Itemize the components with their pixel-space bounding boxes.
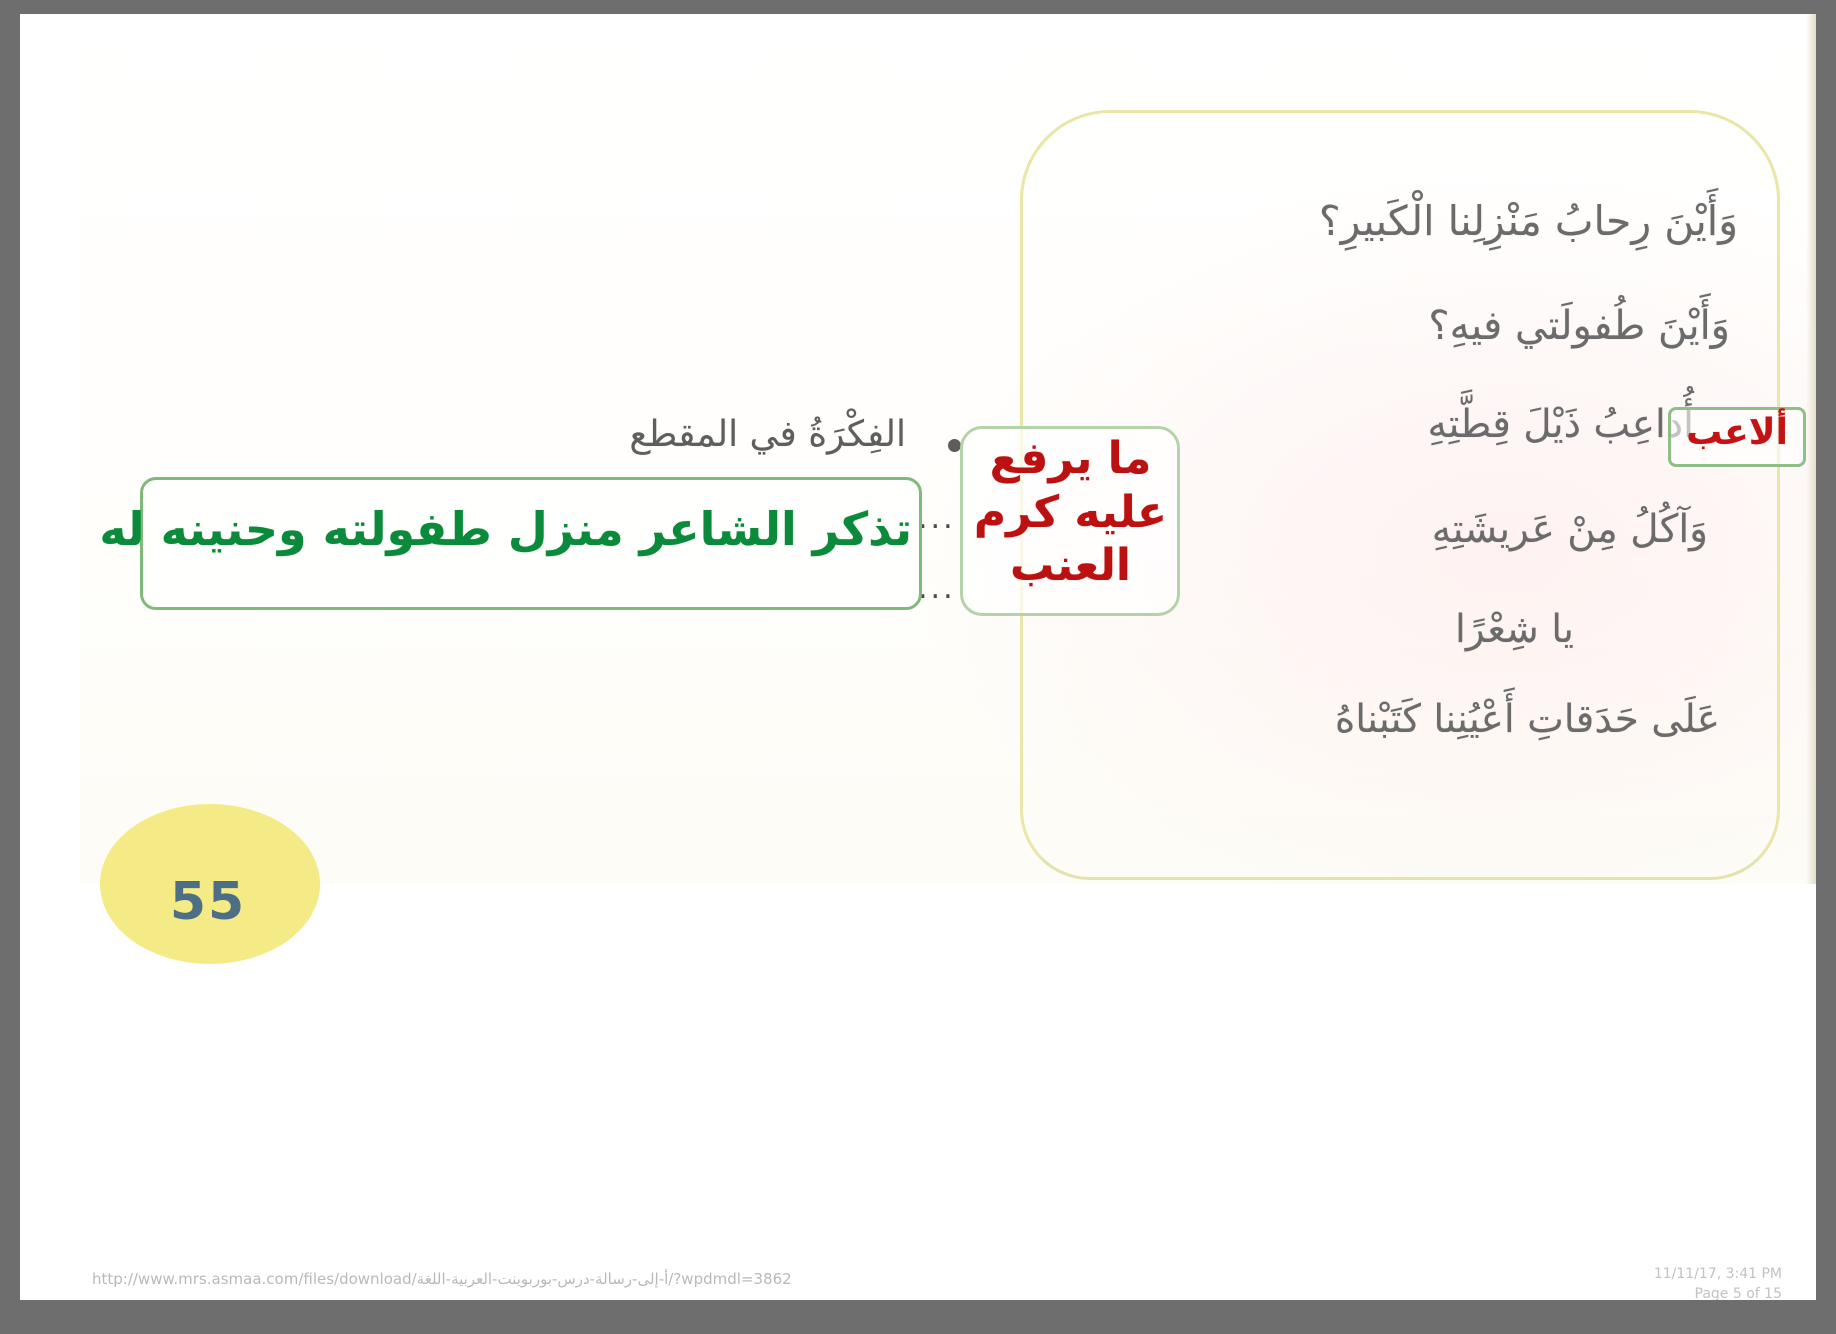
poem-line-1: وَأَيْنَ رِحابُ مَنْزِلِنا الْكَبيرِ؟ — [1319, 196, 1738, 247]
grape-answer-text: ما يرفع عليه كرم العنب — [968, 432, 1173, 593]
page-number-text: 55 — [138, 872, 278, 932]
poem-line-3: أُداعِبُ ذَيْلَ قِطَّتِهِ — [1428, 401, 1694, 450]
footer-timestamp: 11/11/17, 3:41 PM — [1654, 1264, 1782, 1284]
exercise-label: الفِكْرَةُ في المقطع — [629, 414, 906, 455]
poem-line-6: عَلَى حَدَقاتِ أَعْيُنِنا كَتَبْناهُ — [1335, 696, 1720, 745]
poem-line-4: وَآكُلُ مِنْ عَريشَتِهِ — [1432, 506, 1708, 555]
answer-dots-line-2: ... — [918, 574, 956, 604]
footer-page-indicator: Page 5 of 15 — [1654, 1284, 1782, 1300]
highlight-word-text: ألاعب — [1668, 412, 1806, 453]
answer-dots-line-1: ... — [918, 504, 956, 534]
scan-page-edge — [1806, 14, 1816, 884]
footer-source-url: http://www.mrs.asmaa.com/files/download/… — [92, 1270, 792, 1288]
document-page: وَأَيْنَ رِحابُ مَنْزِلِنا الْكَبيرِ؟ وَ… — [20, 14, 1816, 1300]
poem-line-5: يا شِعْرًا — [1455, 606, 1574, 655]
poem-line-2: وَأَيْنَ طُفولَتي فيهِ؟ — [1428, 301, 1730, 351]
idea-answer-text: تذكر الشاعر منزل طفولته وحنينه له — [156, 502, 912, 556]
document-viewer: وَأَيْنَ رِحابُ مَنْزِلِنا الْكَبيرِ؟ وَ… — [0, 0, 1836, 1334]
footer-meta: 11/11/17, 3:41 PM Page 5 of 15 — [1654, 1264, 1782, 1300]
